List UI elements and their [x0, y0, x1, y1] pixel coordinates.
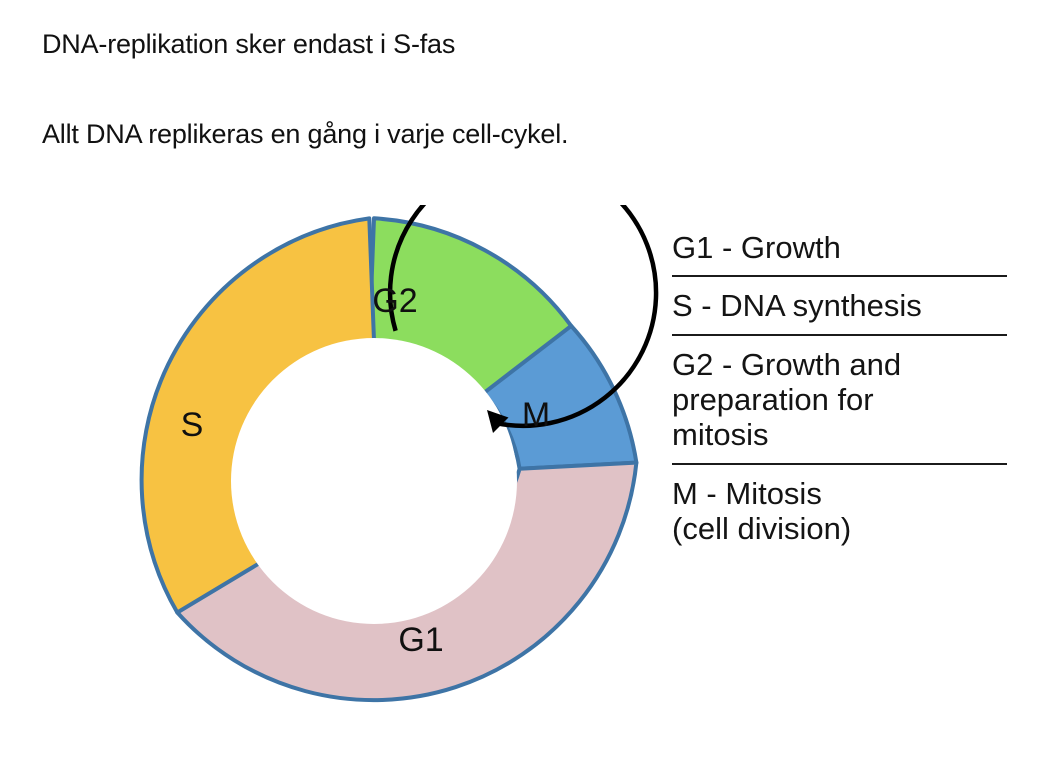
- cell-cycle-donut-diagram: G2 M G1 S: [95, 205, 665, 765]
- slide-canvas: DNA-replikation sker endast i S-fas Allt…: [0, 0, 1060, 770]
- slice-label-s: S: [181, 406, 204, 444]
- legend-entry-g2: G2 - Growth and preparation for mitosis: [672, 345, 1017, 463]
- donut-chart-svg: G2 M G1 S: [95, 205, 665, 765]
- legend-divider-1: [672, 275, 1007, 277]
- legend-divider-3: [672, 463, 1007, 465]
- legend-entry-s: S - DNA synthesis: [672, 286, 1017, 333]
- slice-label-m: M: [522, 396, 550, 434]
- heading-block: DNA-replikation sker endast i S-fas Allt…: [42, 30, 942, 149]
- heading-line-2: Allt DNA replikeras en gång i varje cell…: [42, 120, 942, 148]
- heading-line-1: DNA-replikation sker endast i S-fas: [42, 30, 942, 58]
- legend-entry-g1: G1 - Growth: [672, 228, 1017, 275]
- legend-divider-2: [672, 334, 1007, 336]
- slice-label-g2: G2: [372, 282, 417, 320]
- phase-legend: G1 - Growth S - DNA synthesis G2 - Growt…: [672, 228, 1017, 546]
- legend-entry-m: M - Mitosis (cell division): [672, 474, 1017, 547]
- donut-inner-hub: [231, 338, 517, 624]
- slice-label-g1: G1: [398, 621, 443, 659]
